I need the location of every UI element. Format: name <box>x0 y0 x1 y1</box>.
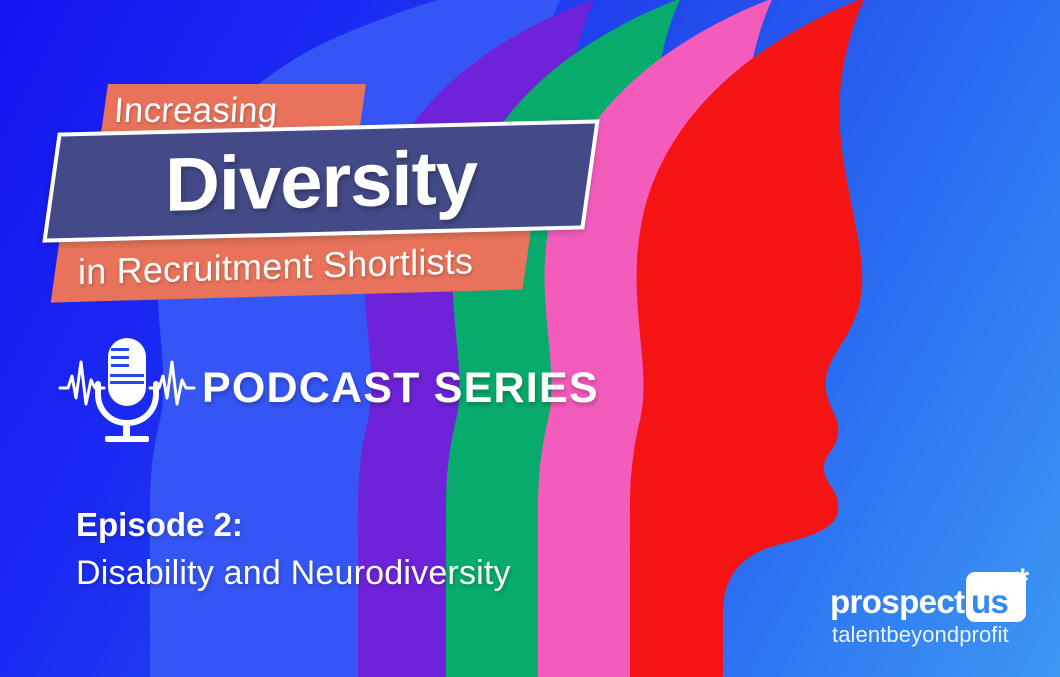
title-line-diversity: Diversity <box>51 119 591 242</box>
episode-block: Episode 2: Disability and Neurodiversity <box>76 506 696 593</box>
logo-us-text: us <box>971 582 1008 622</box>
podcast-cover-poster: Increasing in Recruitment Shortlists Div… <box>0 0 1060 677</box>
asterisk-icon: * <box>1016 564 1029 598</box>
podcast-series-row: PODCAST SERIES <box>58 330 618 446</box>
title-banner-block: Increasing in Recruitment Shortlists Div… <box>56 84 616 314</box>
microphone-icon <box>58 332 196 444</box>
prospectus-logo: prospect us * talentbeyondprofit <box>830 582 1040 654</box>
episode-title: Disability and Neurodiversity <box>76 554 696 593</box>
logo-tagline: talentbeyondprofit <box>832 622 1009 648</box>
banner-mid-wrapper: Diversity <box>51 126 591 236</box>
podcast-series-label: PODCAST SERIES <box>202 364 599 413</box>
logo-main-row: prospect us * <box>830 582 1040 622</box>
episode-number: Episode 2: <box>76 506 696 544</box>
logo-wordmark: prospect <box>830 582 965 622</box>
